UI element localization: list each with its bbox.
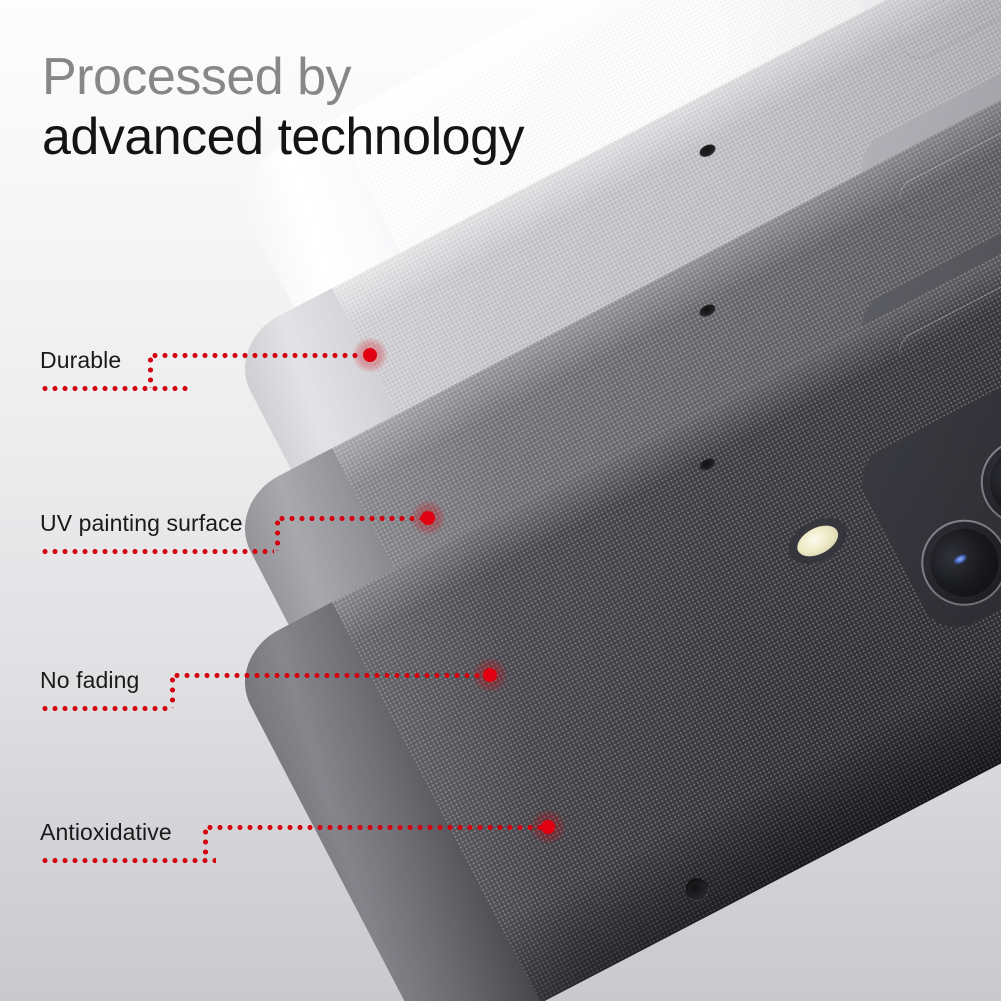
callout-marker-dot [530, 809, 566, 845]
callout-underline [40, 386, 192, 391]
callout-label: Antioxidative [40, 819, 172, 846]
callout-label: Durable [40, 347, 121, 374]
product-feature-image: Processed by advanced technology Durable… [0, 0, 1001, 1001]
callout-underline [40, 706, 170, 711]
callout-elbow [170, 675, 175, 708]
callout-elbow [203, 827, 208, 860]
callout-underline [40, 549, 274, 554]
callout-marker-dot [352, 337, 388, 373]
callout-marker-dot [410, 500, 446, 536]
feature-callouts: DurableUV painting surfaceNo fadingAntio… [0, 0, 1001, 1001]
callout-leader-line [205, 825, 544, 830]
callout-elbow [148, 355, 153, 388]
callout-leader-line [172, 673, 486, 678]
callout-elbow [275, 518, 280, 551]
callout-label: UV painting surface [40, 510, 243, 537]
callout-leader-line [150, 353, 362, 358]
callout-underline [40, 858, 216, 863]
callout-label: No fading [40, 667, 139, 694]
callout-leader-line [277, 516, 425, 521]
callout-marker-dot [472, 657, 508, 693]
